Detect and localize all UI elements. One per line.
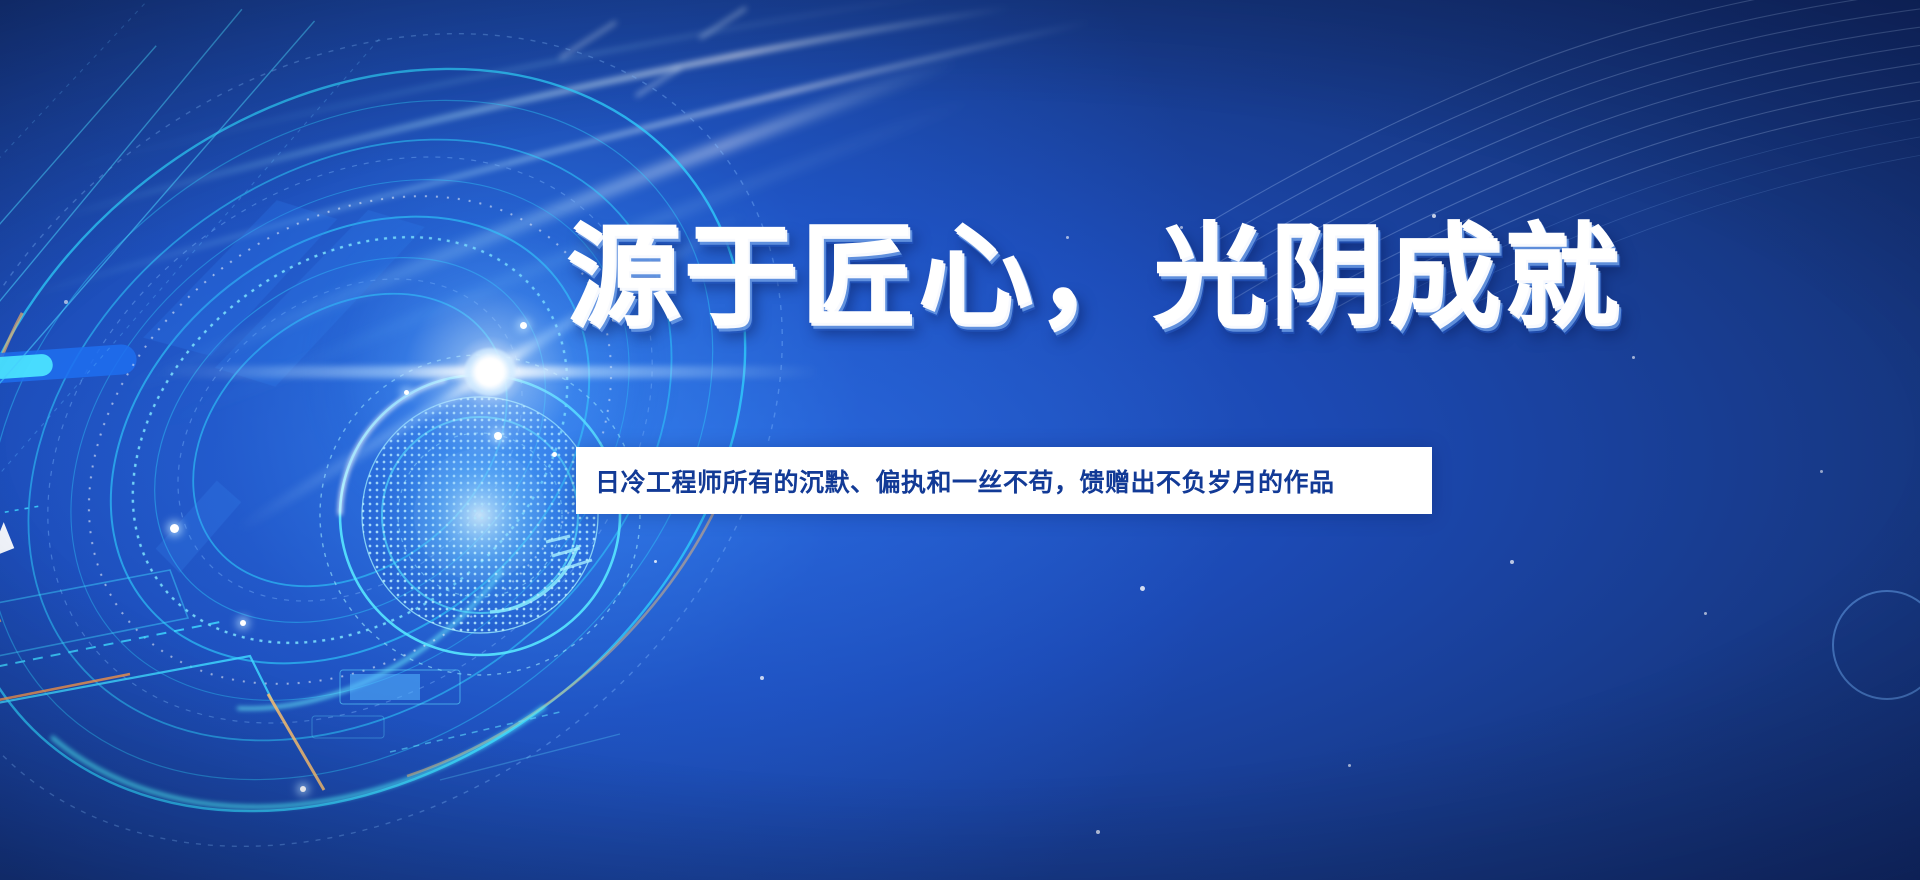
corner-ring-decoration [1832,590,1920,700]
subtitle-bar: 日冷工程师所有的沉默、偏执和一丝不苟，馈赠出不负岁月的作品 [576,447,1432,514]
star-particles [0,0,1920,880]
diagonal-light-streaks [0,0,1920,880]
subtitle-text: 日冷工程师所有的沉默、偏执和一丝不苟，馈赠出不负岁月的作品 [576,463,1335,499]
tech-hud-circle-graphic [0,0,1100,880]
page-title: 源于匠心，光阴成就 [566,213,1464,341]
dot-matrix-sphere-graphic [355,390,610,645]
chevron-arrow-mark [0,516,15,564]
hero-banner: 源于匠心，光阴成就 日冷工程师所有的沉默、偏执和一丝不苟，馈赠出不负岁月的作品 [0,0,1920,880]
vignette-overlay [0,0,1920,880]
